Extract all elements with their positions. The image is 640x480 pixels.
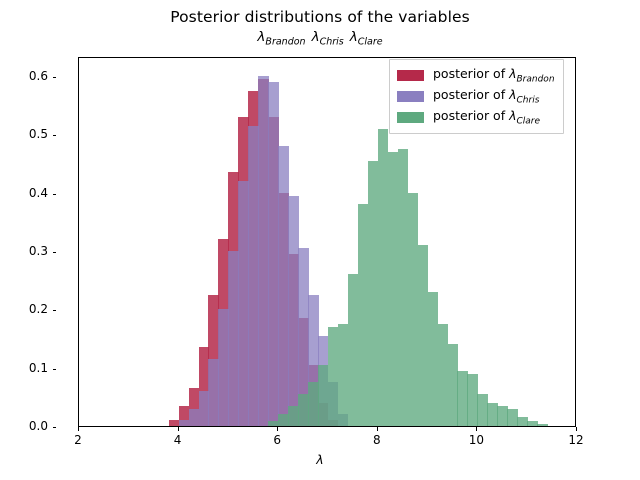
histogram-bar — [457, 371, 467, 426]
x-tick-label: 12 — [568, 433, 583, 447]
y-tick-label: 0.1 — [29, 361, 48, 375]
y-tick-mark — [53, 252, 57, 253]
subtitle-symbol-clare: λClare — [350, 29, 383, 45]
legend-label: posterior of λBrandon — [433, 66, 555, 85]
x-tick-mark — [576, 427, 577, 431]
legend-swatch-icon — [397, 91, 424, 102]
subtitle-symbol-chris: λChris — [312, 29, 344, 45]
histogram-bar — [348, 274, 358, 426]
y-tick-label: 0.6 — [29, 69, 48, 83]
histogram-bar — [497, 406, 507, 426]
y-tick-mark — [53, 135, 57, 136]
legend-item-chris[interactable]: posterior of λChris — [397, 86, 555, 107]
histogram-bar — [537, 424, 547, 426]
histogram-bar — [507, 409, 517, 426]
histogram-bar — [358, 204, 368, 426]
x-tick-mark — [476, 427, 477, 431]
histogram-bar — [527, 421, 537, 426]
y-tick-label: 0.0 — [29, 419, 48, 433]
x-tick-mark — [78, 427, 79, 431]
legend-item-clare[interactable]: posterior of λClare — [397, 107, 555, 128]
legend-item-brandon[interactable]: posterior of λBrandon — [397, 65, 555, 86]
y-tick-mark — [53, 310, 57, 311]
histogram-bar — [438, 324, 448, 426]
legend-label: posterior of λChris — [433, 87, 539, 106]
histogram-bar — [477, 394, 487, 426]
histogram-bar — [238, 181, 248, 426]
x-tick-label: 8 — [373, 433, 381, 447]
x-tick-label: 2 — [74, 433, 82, 447]
x-tick-mark — [178, 427, 179, 431]
histogram-bar — [378, 129, 388, 426]
histogram-bar — [248, 126, 258, 426]
y-tick-mark — [53, 194, 57, 195]
histogram-bar — [408, 193, 418, 426]
histogram-bar — [368, 161, 378, 426]
histogram-bar — [278, 414, 288, 426]
histogram-bar — [278, 146, 288, 426]
histogram-bar — [258, 76, 268, 426]
y-tick-label: 0.3 — [29, 244, 48, 258]
histogram-bar — [169, 420, 179, 426]
x-tick-label: 4 — [174, 433, 182, 447]
y-tick-label: 0.4 — [29, 186, 48, 200]
x-tick-mark — [377, 427, 378, 431]
histogram-bar — [388, 152, 398, 426]
x-tick-label: 10 — [469, 433, 484, 447]
histogram-bar — [517, 417, 527, 426]
histogram-bar — [268, 421, 278, 426]
y-tick-mark — [53, 427, 57, 428]
x-tick-mark — [277, 427, 278, 431]
legend[interactable]: posterior of λBrandonposterior of λChris… — [389, 59, 564, 134]
figure: Posterior distributions of the variables… — [0, 0, 640, 480]
histogram-bar — [218, 309, 228, 426]
legend-swatch-icon — [397, 112, 424, 123]
histogram-bar — [398, 149, 408, 426]
y-tick-mark — [53, 369, 57, 370]
x-axis-label: λ — [0, 452, 640, 467]
histogram-bar — [428, 292, 438, 426]
histogram-bar — [308, 382, 318, 426]
legend-swatch-icon — [397, 70, 424, 81]
histogram-bar — [288, 406, 298, 426]
histogram-bar — [189, 409, 199, 426]
histogram-bar — [288, 196, 298, 426]
chart-title: Posterior distributions of the variables — [0, 8, 640, 26]
legend-label: posterior of λClare — [433, 108, 540, 127]
histogram-bar — [199, 391, 209, 426]
y-tick-label: 0.5 — [29, 127, 48, 141]
histogram-bar — [179, 420, 189, 426]
histogram-bar — [418, 245, 428, 426]
histogram-bar — [228, 251, 238, 426]
histogram-bar — [268, 82, 278, 426]
histogram-bar — [318, 365, 328, 426]
histogram-bar — [208, 359, 218, 426]
y-tick-label: 0.2 — [29, 302, 48, 316]
histogram-bar — [467, 374, 477, 426]
histogram-bar — [298, 394, 308, 426]
subtitle-symbol-brandon: λBrandon — [257, 29, 305, 45]
histogram-bar — [448, 344, 458, 426]
histogram-bar — [487, 403, 497, 426]
histogram-bar — [328, 327, 338, 426]
histogram-bar — [338, 324, 348, 426]
chart-subtitle: λBrandonλChrisλClare — [0, 29, 640, 48]
y-tick-mark — [53, 77, 57, 78]
x-tick-label: 6 — [273, 433, 281, 447]
